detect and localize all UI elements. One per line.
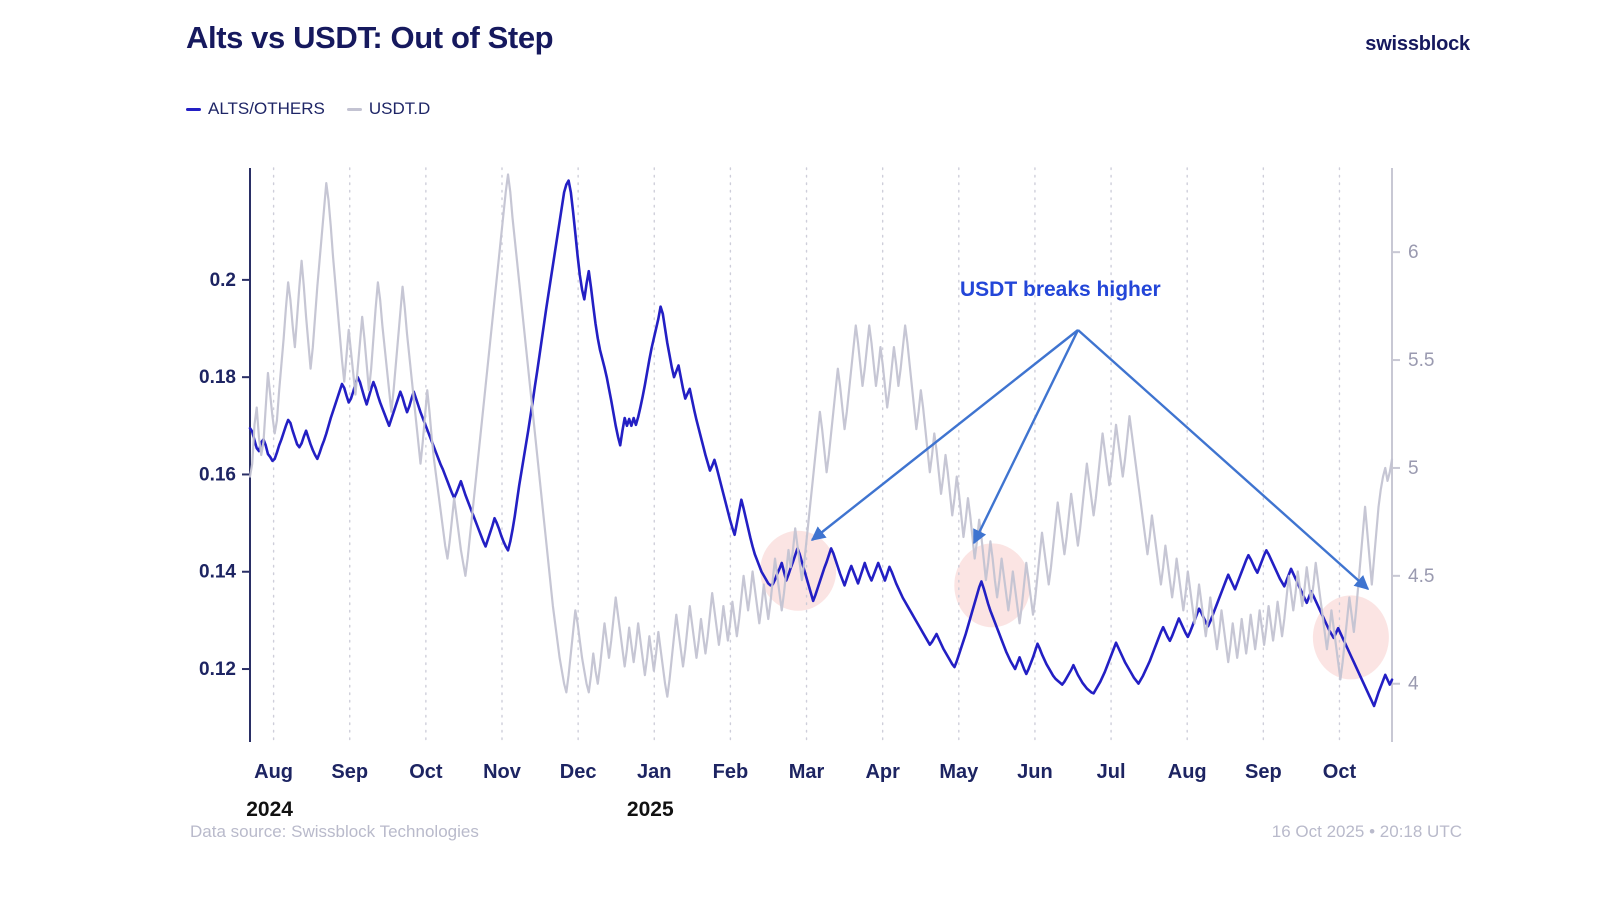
chart-svg: 0.120.140.160.180.244.555.56AugSepOctNov… xyxy=(0,0,1600,900)
x-axis-tick-label: Aug xyxy=(254,761,293,783)
y-axis-right-tick-label: 5.5 xyxy=(1408,350,1434,371)
x-axis-tick-label: Dec xyxy=(560,761,597,783)
y-axis-right-tick-label: 5 xyxy=(1408,458,1419,479)
y-axis-right-tick-label: 4 xyxy=(1408,674,1419,695)
x-axis-tick-label: Apr xyxy=(865,761,900,783)
x-axis-tick-label: Jul xyxy=(1097,761,1126,783)
x-axis-tick-label: Jun xyxy=(1017,761,1053,783)
y-axis-left-tick-label: 0.16 xyxy=(199,464,236,485)
y-axis-right-tick-label: 6 xyxy=(1408,242,1419,263)
y-axis-left-tick-label: 0.2 xyxy=(210,270,236,291)
x-axis-year-label: 2025 xyxy=(627,798,674,821)
x-axis-tick-label: Aug xyxy=(1168,761,1207,783)
timestamp-label: 16 Oct 2025 • 20:18 UTC xyxy=(1272,822,1462,842)
x-axis-tick-label: Jan xyxy=(637,761,671,783)
x-axis-tick-label: Mar xyxy=(789,761,825,783)
x-axis-tick-label: Sep xyxy=(331,761,368,783)
x-axis-tick-label: Feb xyxy=(713,761,749,783)
x-axis-tick-label: Nov xyxy=(483,761,522,783)
series-line-usdt-d xyxy=(250,174,1392,696)
chart-page: Alts vs USDT: Out of Step swissblock ALT… xyxy=(0,0,1600,900)
y-axis-left-tick-label: 0.14 xyxy=(199,562,236,583)
x-axis-tick-label: Oct xyxy=(1323,761,1357,783)
chart-canvas: 0.120.140.160.180.244.555.56AugSepOctNov… xyxy=(0,0,1600,900)
y-axis-left-tick-label: 0.12 xyxy=(199,659,236,680)
x-axis-tick-label: Sep xyxy=(1245,761,1282,783)
x-axis-tick-label: May xyxy=(939,761,979,783)
annotation-label-1: USDT breaks higher xyxy=(960,278,1161,301)
x-axis-year-label: 2024 xyxy=(246,798,293,821)
data-source-label: Data source: Swissblock Technologies xyxy=(190,822,479,842)
annotation-arrow-2 xyxy=(974,330,1078,543)
y-axis-right-tick-label: 4.5 xyxy=(1408,566,1434,587)
y-axis-left-tick-label: 0.18 xyxy=(199,367,236,388)
x-axis-tick-label: Oct xyxy=(409,761,443,783)
